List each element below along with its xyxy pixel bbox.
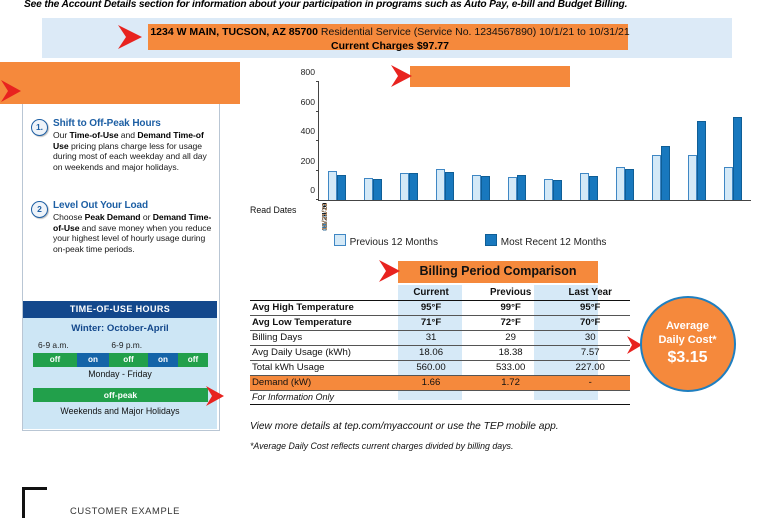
chart-xlabel-recent: 10/31/21 — [320, 203, 329, 231]
chart-bar-previous: 10/29/20 — [724, 167, 733, 200]
table-cell: 99°F — [471, 300, 551, 315]
table-row: Total kWh Usage560.00533.00227.00 — [250, 360, 630, 375]
chart-bar-pair: 10/29/2010/31/21 — [715, 82, 751, 200]
chart-bar-pair: 03/27/2003/30/21 — [463, 82, 499, 200]
table-row: Avg Low Temperature71°F72°F70°F — [250, 315, 630, 330]
table-cell: 95°F — [550, 300, 630, 315]
chart-bar-recent: 04/30/21 — [517, 175, 526, 200]
average-daily-cost-badge: Average Daily Cost* $3.15 — [640, 296, 736, 392]
time-of-use-season: Winter: October-April — [23, 323, 217, 334]
usage-bar-chart: Read Dates 0200400600800 11/28/1911/30/2… — [250, 62, 770, 237]
chart-bar-pair: 11/28/1911/30/20 — [319, 82, 355, 200]
chart-bar-recent: 06/30/21 — [589, 176, 598, 200]
chart-bar-recent: 10/31/21 — [733, 117, 742, 200]
table-cell: 70°F — [550, 315, 630, 330]
tip-item-2: 2 Level Out Your Load Choose Peak Demand… — [31, 200, 213, 254]
chart-bar-previous: 09/27/20 — [688, 155, 697, 200]
tip-text-1: Our Time-of-Use and Demand Time-of Use p… — [53, 130, 213, 172]
legend-item-previous: Previous 12 Months — [334, 234, 438, 248]
red-arrow-icon-left — [0, 78, 30, 104]
crop-corner-mark — [22, 487, 47, 518]
account-details-note: See the Account Details section for info… — [24, 0, 754, 10]
tip-text-2: Choose Peak Demand or Demand Time-of-Use… — [53, 212, 213, 254]
chart-bar-previous: 08/29/20 — [652, 155, 661, 200]
account-service-detail: Residential Service (Service No. 1234567… — [318, 26, 630, 38]
chart-bar-previous: 06/28/20 — [580, 173, 589, 200]
chart-bar-pair: 05/28/2005/31/21 — [535, 82, 571, 200]
time-of-use-weekday-bar: offonoffonoff — [33, 353, 208, 367]
table-row: Demand (kW)1.661.72- — [250, 375, 630, 390]
table-row: Billing Days312930 — [250, 330, 630, 345]
table-cell: 95°F — [391, 300, 471, 315]
chart-bar-pair: 04/28/2004/30/21 — [499, 82, 535, 200]
view-details-note: View more details at tep.com/myaccount o… — [250, 421, 650, 432]
table-cell: 29 — [471, 330, 551, 345]
table-cell: 30 — [550, 330, 630, 345]
chart-bar-pair: 02/27/2002/28/21 — [427, 82, 463, 200]
account-address: 1234 W MAIN, TUCSON, AZ 85700 — [150, 26, 318, 38]
chart-bar-recent: 07/31/21 — [625, 169, 634, 200]
red-arrow-icon-tou — [205, 385, 231, 407]
chart-bar-pair: 01/29/2001/31/21 — [391, 82, 427, 200]
tou-time-left: 6-9 a.m. — [38, 340, 69, 350]
legend-label-recent: Most Recent 12 Months — [501, 237, 607, 248]
chart-ytick-0: 0 — [310, 185, 315, 195]
chart-ytick-800: 800 — [301, 67, 315, 77]
tip-number-2: 2 — [31, 201, 48, 218]
chart-ytick-200: 200 — [301, 156, 315, 166]
chart-bar-previous: 02/27/20 — [436, 169, 445, 200]
time-of-use-offpeak-bar: off-peak — [33, 388, 208, 402]
current-charges: Current Charges $97.77 — [120, 40, 660, 52]
chart-plot-area: 0200400600800 11/28/1911/30/2012/30/1912… — [318, 82, 751, 201]
account-service-line: 1234 W MAIN, TUCSON, AZ 85700 Residentia… — [120, 26, 660, 38]
table-cell: 72°F — [471, 315, 551, 330]
avg-cost-amount: $3.15 — [642, 349, 733, 367]
chart-bar-recent: 05/31/21 — [553, 180, 562, 200]
table-column-header: Current — [391, 285, 471, 300]
chart-legend: Previous 12 Months Most Recent 12 Months — [250, 234, 690, 248]
chart-bar-previous: 05/28/20 — [544, 179, 553, 200]
table-cell: 18.38 — [471, 345, 551, 360]
chart-bar-recent: 12/31/20 — [373, 179, 382, 200]
chart-bar-recent: 03/30/21 — [481, 176, 490, 200]
table-row-label: Billing Days — [250, 330, 391, 345]
tip-title-2: Level Out Your Load — [53, 200, 213, 211]
table-row: Avg Daily Usage (kWh)18.0618.387.57 — [250, 345, 630, 360]
chart-bar-recent: 09/30/21 — [697, 121, 706, 200]
chart-bar-previous: 11/28/19 — [328, 171, 337, 201]
table-cell: 1.72 — [471, 375, 551, 390]
chart-bars: 11/28/1911/30/2012/30/1912/31/2001/29/20… — [319, 82, 751, 200]
table-cell: 1.66 — [391, 375, 471, 390]
chart-bar-pair: 07/28/2007/31/21 — [607, 82, 643, 200]
chart-bar-pair: 09/27/2009/30/21 — [679, 82, 715, 200]
table-header-row: CurrentPreviousLast Year — [250, 285, 630, 300]
table-row-label: Total kWh Usage — [250, 360, 391, 375]
time-of-use-weekend-label: Weekends and Major Holidays — [23, 406, 217, 416]
table-row-label: Avg High Temperature — [250, 300, 391, 315]
table-row-label: Avg Daily Usage (kWh) — [250, 345, 391, 360]
table-cell: 7.57 — [550, 345, 630, 360]
table-column-header — [250, 285, 391, 300]
read-dates-label: Read Dates — [250, 205, 296, 215]
time-of-use-weekday-label: Monday - Friday — [23, 369, 217, 379]
tip-number-1: 1. — [31, 119, 48, 136]
tip-item-1: 1. Shift to Off-Peak Hours Our Time-of-U… — [31, 118, 213, 172]
chart-bar-recent: 02/28/21 — [445, 172, 454, 200]
tou-segment-1: on — [77, 353, 109, 367]
tou-time-right: 6-9 p.m. — [111, 340, 142, 350]
tou-segment-0: off — [33, 353, 77, 367]
time-of-use-times: 6-9 a.m. 6-9 p.m. — [38, 340, 202, 350]
chart-bar-recent: 11/30/20 — [337, 175, 346, 200]
chart-bar-previous: 04/28/20 — [508, 177, 517, 200]
tou-segment-2: off — [109, 353, 148, 367]
billing-comparison-title: Billing Period Comparison — [398, 264, 598, 278]
left-callout-banner — [0, 62, 240, 104]
legend-label-previous: Previous 12 Months — [350, 237, 438, 248]
table-cell: 71°F — [391, 315, 471, 330]
time-of-use-header: TIME-OF-USE HOURS — [23, 301, 217, 318]
table-cell: 533.00 — [471, 360, 551, 375]
tou-segment-4: off — [178, 353, 208, 367]
table-column-header: Last Year — [550, 285, 630, 300]
table-column-header: Previous — [471, 285, 551, 300]
chart-bar-pair: 08/29/2008/31/21 — [643, 82, 679, 200]
legend-item-recent: Most Recent 12 Months — [485, 234, 607, 248]
chart-bar-recent: 08/31/21 — [661, 146, 670, 200]
table-row-label: Avg Low Temperature — [250, 315, 391, 330]
tou-segment-3: on — [148, 353, 178, 367]
customer-example-label: CUSTOMER EXAMPLE — [70, 505, 180, 516]
chart-ytick-600: 600 — [301, 97, 315, 107]
avg-cost-line2: Daily Cost* — [642, 334, 733, 346]
chart-bar-previous: 01/29/20 — [400, 173, 409, 200]
legend-swatch-recent — [485, 234, 497, 246]
table-cell: 560.00 — [391, 360, 471, 375]
legend-swatch-previous — [334, 234, 346, 246]
table-cell: 31 — [391, 330, 471, 345]
table-cell: 227.00 — [550, 360, 630, 375]
table-row-label: Demand (kW) — [250, 375, 391, 390]
for-information-only: For Information Only — [250, 390, 630, 404]
chart-bar-previous: 07/28/20 — [616, 167, 625, 200]
billing-comparison-table: CurrentPreviousLast YearAvg High Tempera… — [250, 285, 630, 405]
chart-bar-pair: 06/28/2006/30/21 — [571, 82, 607, 200]
chart-ytick-400: 400 — [301, 126, 315, 136]
table-info-row: For Information Only — [250, 390, 630, 404]
chart-bar-recent: 01/31/21 — [409, 173, 418, 200]
chart-bar-pair: 12/30/1912/31/20 — [355, 82, 391, 200]
chart-bar-previous: 03/27/20 — [472, 175, 481, 200]
avg-cost-line1: Average — [642, 320, 733, 332]
table-cell: - — [550, 375, 630, 390]
table-cell: 18.06 — [391, 345, 471, 360]
avg-daily-cost-note: *Average Daily Cost reflects current cha… — [250, 441, 650, 451]
chart-bar-previous: 12/30/19 — [364, 178, 373, 200]
tip-title-1: Shift to Off-Peak Hours — [53, 118, 213, 129]
table-row: Avg High Temperature95°F99°F95°F — [250, 300, 630, 315]
